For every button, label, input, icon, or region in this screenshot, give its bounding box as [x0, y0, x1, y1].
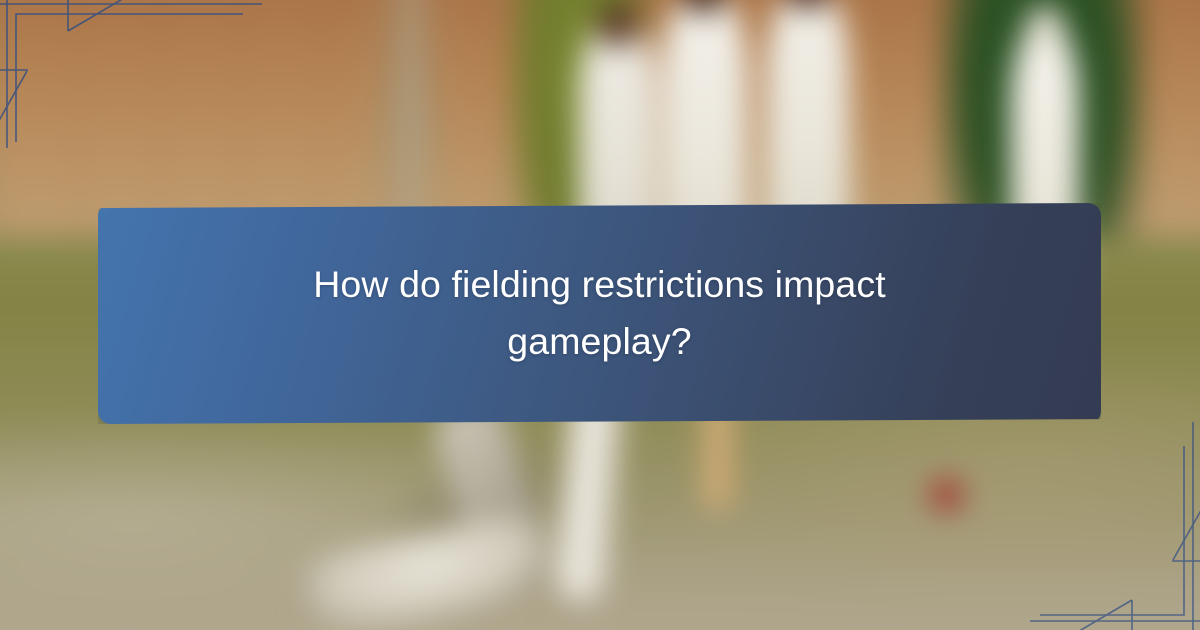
social-card-canvas: How do fielding restrictions impact game…: [0, 0, 1200, 630]
question-card-content: How do fielding restrictions impact game…: [168, 256, 1031, 372]
corner-bracket-bottom-right: [1030, 422, 1200, 630]
question-card: How do fielding restrictions impact game…: [98, 203, 1101, 424]
corner-bracket-top-left: [0, 0, 262, 148]
question-text: How do fielding restrictions impact game…: [279, 256, 919, 370]
